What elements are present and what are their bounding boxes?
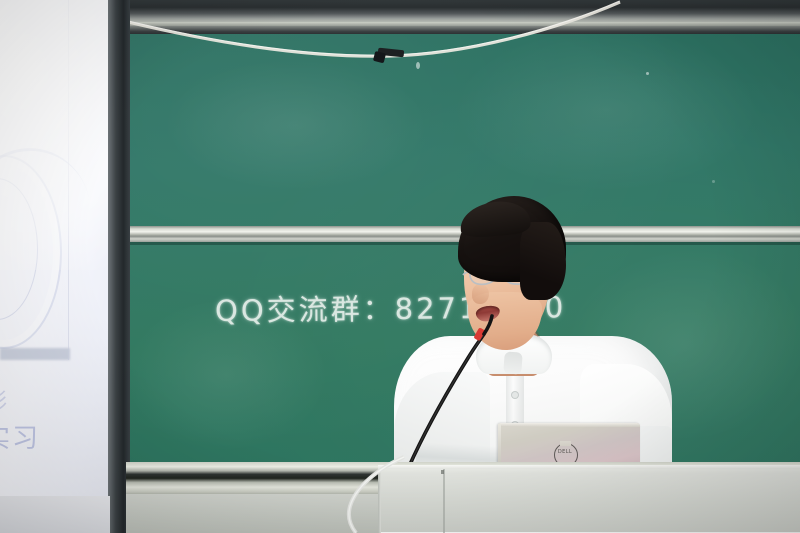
projector-screen: 彩 实习: [0, 0, 113, 533]
chalkboard-frame-left: [108, 0, 130, 533]
laptop-lid-top-edge: [498, 423, 640, 427]
chalk-speck: [646, 72, 649, 75]
podium-top-edge: [378, 465, 800, 469]
wall-below-screen: [0, 496, 110, 533]
board-track-top-highlight: [126, 22, 800, 26]
chalk-speck: [712, 180, 715, 183]
chalk-smudge: [456, 30, 756, 190]
slide-text-line-2: 实习: [0, 418, 40, 455]
dell-logo-notch: [560, 441, 571, 446]
slide-panel-edge: [68, 0, 69, 360]
slide-shadow-bar: [0, 348, 70, 360]
lectern-podium: [378, 465, 800, 533]
slide-text-line-1: 彩: [0, 385, 9, 415]
podium-panel-seam: [443, 469, 445, 533]
speaker-hair-side: [520, 222, 566, 300]
board-track-top: [126, 0, 800, 34]
slide-ribbon-arc: [0, 137, 101, 282]
podium-left-edge: [378, 469, 381, 533]
podium-corner-fixture: [441, 470, 444, 474]
dell-logo-text: DELL: [554, 449, 576, 455]
lecture-photo-scene: 彩 实习 QQ交流群：82711040: [0, 0, 800, 533]
chalk-speck: [416, 62, 420, 69]
chalk-smudge: [166, 60, 426, 190]
